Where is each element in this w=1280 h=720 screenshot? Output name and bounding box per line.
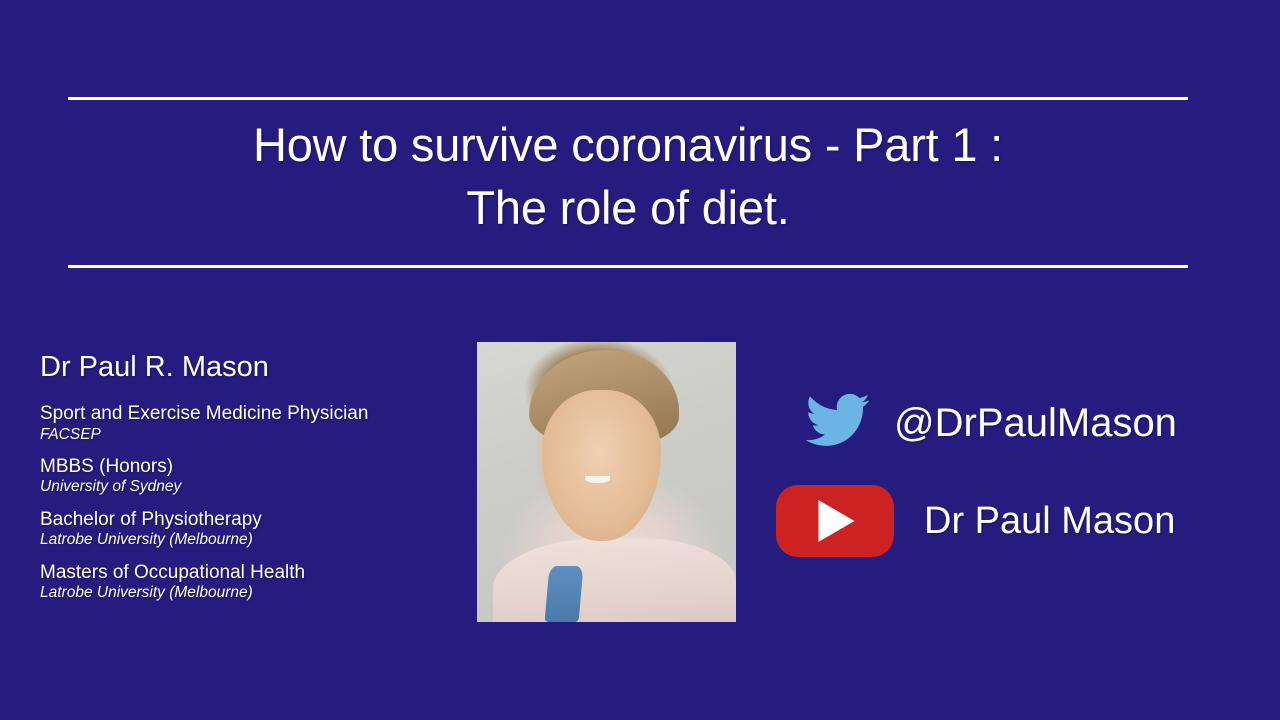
twitter-handle: @DrPaulMason bbox=[894, 403, 1177, 443]
credential-item: Sport and Exercise Medicine Physician FA… bbox=[40, 402, 460, 444]
youtube-channel-name: Dr Paul Mason bbox=[924, 502, 1175, 540]
slide-title: How to survive coronavirus - Part 1 : Th… bbox=[68, 100, 1188, 239]
portrait-smile bbox=[585, 476, 610, 484]
social-links-block: @DrPaulMason Dr Paul Mason bbox=[776, 382, 1256, 560]
portrait-image bbox=[477, 342, 736, 622]
credential-primary: Bachelor of Physiotherapy bbox=[40, 508, 460, 531]
youtube-link[interactable]: Dr Paul Mason bbox=[776, 482, 1256, 560]
credential-secondary: Latrobe University (Melbourne) bbox=[40, 531, 460, 550]
twitter-bird-icon bbox=[804, 393, 872, 453]
credential-item: Bachelor of Physiotherapy Latrobe Univer… bbox=[40, 508, 460, 550]
presenter-photo bbox=[477, 342, 736, 622]
credential-secondary: Latrobe University (Melbourne) bbox=[40, 584, 460, 603]
credential-item: MBBS (Honors) University of Sydney bbox=[40, 455, 460, 497]
credential-secondary: University of Sydney bbox=[40, 478, 460, 497]
portrait-shirt bbox=[493, 538, 736, 622]
twitter-link[interactable]: @DrPaulMason bbox=[776, 382, 1256, 464]
credential-primary: Masters of Occupational Health bbox=[40, 561, 460, 584]
play-triangle-icon bbox=[818, 500, 854, 542]
portrait-face bbox=[542, 390, 661, 541]
credential-item: Masters of Occupational Health Latrobe U… bbox=[40, 561, 460, 603]
credential-secondary: FACSEP bbox=[40, 426, 460, 445]
portrait-tie bbox=[544, 566, 583, 622]
title-rule-bottom bbox=[68, 265, 1188, 268]
presentation-slide: How to survive coronavirus - Part 1 : Th… bbox=[0, 0, 1280, 720]
presenter-name: Dr Paul R. Mason bbox=[40, 352, 460, 382]
credential-primary: Sport and Exercise Medicine Physician bbox=[40, 402, 460, 425]
credential-primary: MBBS (Honors) bbox=[40, 455, 460, 478]
youtube-play-icon bbox=[776, 485, 894, 557]
credentials-block: Dr Paul R. Mason Sport and Exercise Medi… bbox=[40, 352, 460, 614]
title-block: How to survive coronavirus - Part 1 : Th… bbox=[68, 97, 1188, 239]
